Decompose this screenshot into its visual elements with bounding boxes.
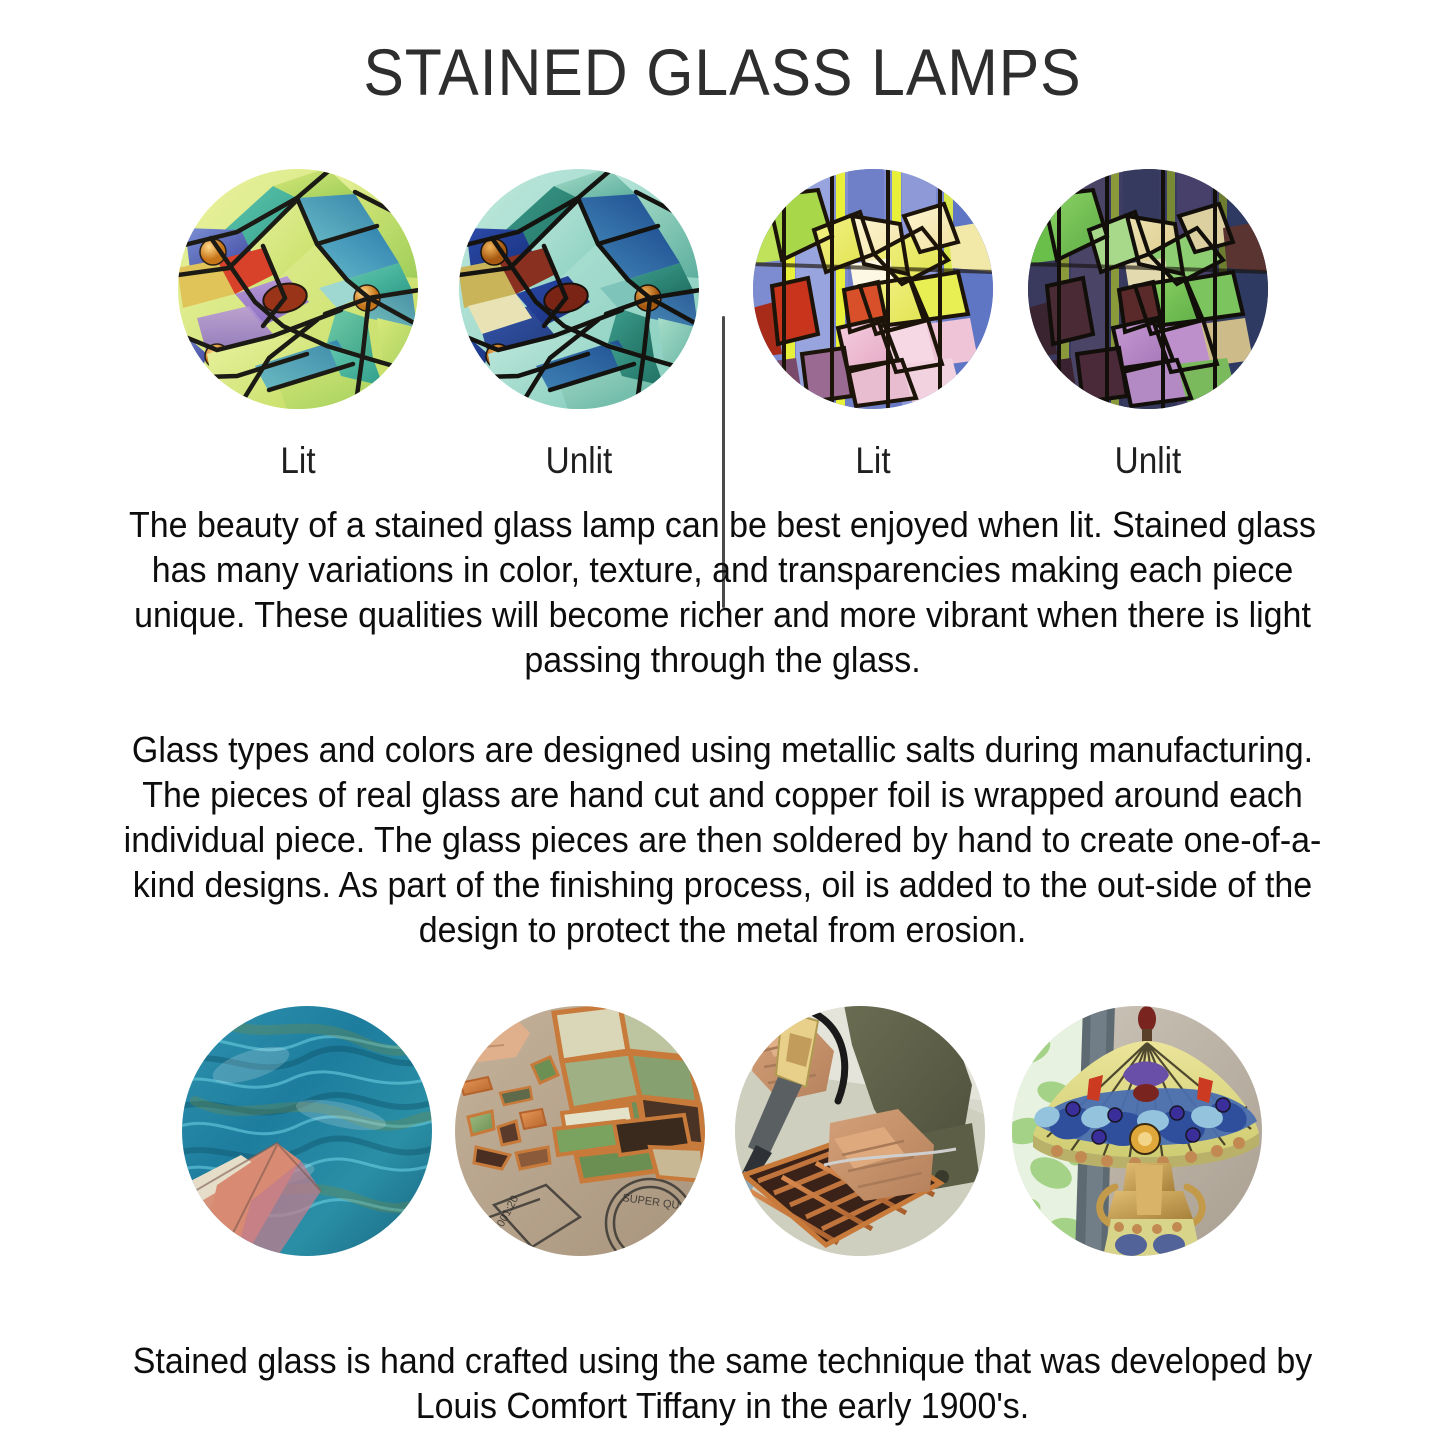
paragraph-manufacturing-process: Glass types and colors are designed usin… [103,727,1343,952]
label-unlit-1: Unlit [470,440,688,482]
process-photos-row: SUPER QU 9001:20 [0,1005,1445,1267]
hand-soldering-photo [734,1005,986,1257]
paragraph-tiffany-technique: Stained glass is hand crafted using the … [103,1338,1343,1428]
finished-tiffany-lamp-photo [1011,1005,1263,1257]
copper-foiled-pieces-photo: SUPER QU 9001:20 [454,1005,706,1257]
paragraph-beauty-when-lit: The beauty of a stained glass lamp can b… [103,502,1343,682]
unlit-floral-circle [1027,168,1269,410]
lit-geometric-circle [177,168,419,410]
page-title: STAINED GLASS LAMPS [58,34,1387,110]
blue-marbled-glass-photo [181,1005,433,1257]
comparison-circles-row [0,168,1445,440]
label-unlit-2: Unlit [1039,440,1257,482]
infographic-page: STAINED GLASS LAMPS [0,0,1445,1445]
unlit-geometric-circle [458,168,700,410]
lit-floral-circle [752,168,994,410]
label-lit-2: Lit [764,440,982,482]
label-lit-1: Lit [189,440,407,482]
